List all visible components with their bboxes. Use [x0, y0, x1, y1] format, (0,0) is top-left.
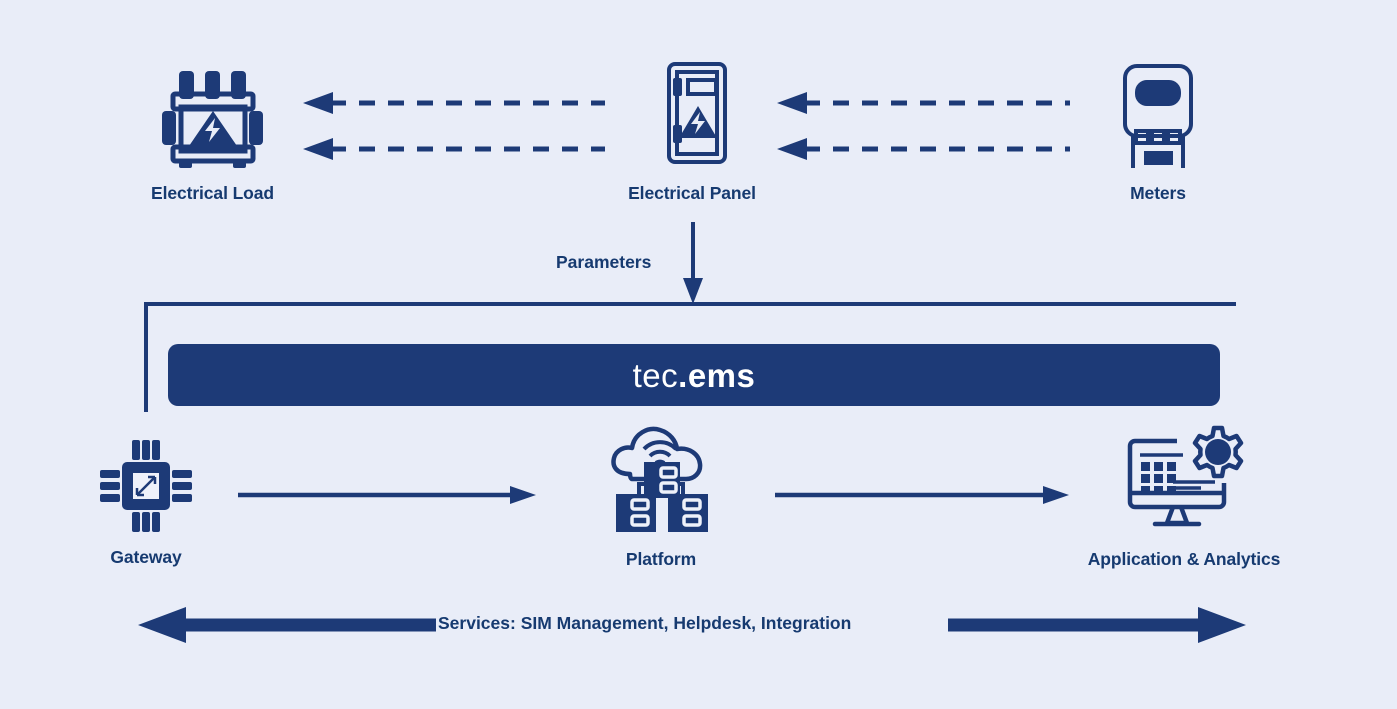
parameters-label: Parameters [556, 252, 651, 273]
dashed-arrow-panel-to-load-2 [300, 138, 605, 165]
node-label-meters: Meters [1130, 183, 1186, 204]
dashed-arrow-panel-to-load-1 [300, 92, 605, 119]
cloud-servers-icon [606, 422, 716, 539]
node-label-gateway: Gateway [110, 547, 181, 568]
services-arrow-right [948, 607, 1248, 648]
node-gateway: Gateway [75, 440, 217, 568]
services-label: Services: SIM Management, Helpdesk, Inte… [438, 613, 851, 634]
node-label-platform: Platform [626, 549, 696, 570]
chip-icon [100, 440, 192, 537]
parameters-arrow-down [682, 222, 704, 311]
node-label-electrical-panel: Electrical Panel [628, 183, 756, 204]
ems-brand-suffix: .ems [678, 359, 755, 392]
dashed-arrow-meters-to-panel-1 [774, 92, 1070, 119]
electrical-panel-icon [652, 58, 732, 173]
services-arrow-left [136, 607, 436, 648]
solid-arrow-gateway-to-platform [238, 485, 538, 510]
node-meters: Meters [1088, 58, 1228, 204]
dashed-arrow-meters-to-panel-2 [774, 138, 1070, 165]
ems-brand: tec.ems [633, 359, 756, 392]
ems-banner: tec.ems [168, 344, 1220, 406]
node-platform: Platform [590, 422, 732, 570]
ems-brand-prefix: tec [633, 359, 679, 392]
diagram-canvas: Electrical Load Electrical Panel [0, 0, 1397, 709]
node-electrical-panel: Electrical Panel [618, 58, 766, 204]
meter-icon [1113, 58, 1203, 173]
solid-arrow-platform-to-application [775, 485, 1071, 510]
transformer-icon [159, 58, 267, 173]
node-label-electrical-load: Electrical Load [151, 183, 274, 204]
node-application-analytics: Application & Analytics [1070, 422, 1298, 570]
node-electrical-load: Electrical Load [140, 58, 285, 204]
monitor-gear-icon [1121, 422, 1247, 539]
node-label-application-analytics: Application & Analytics [1088, 549, 1281, 570]
